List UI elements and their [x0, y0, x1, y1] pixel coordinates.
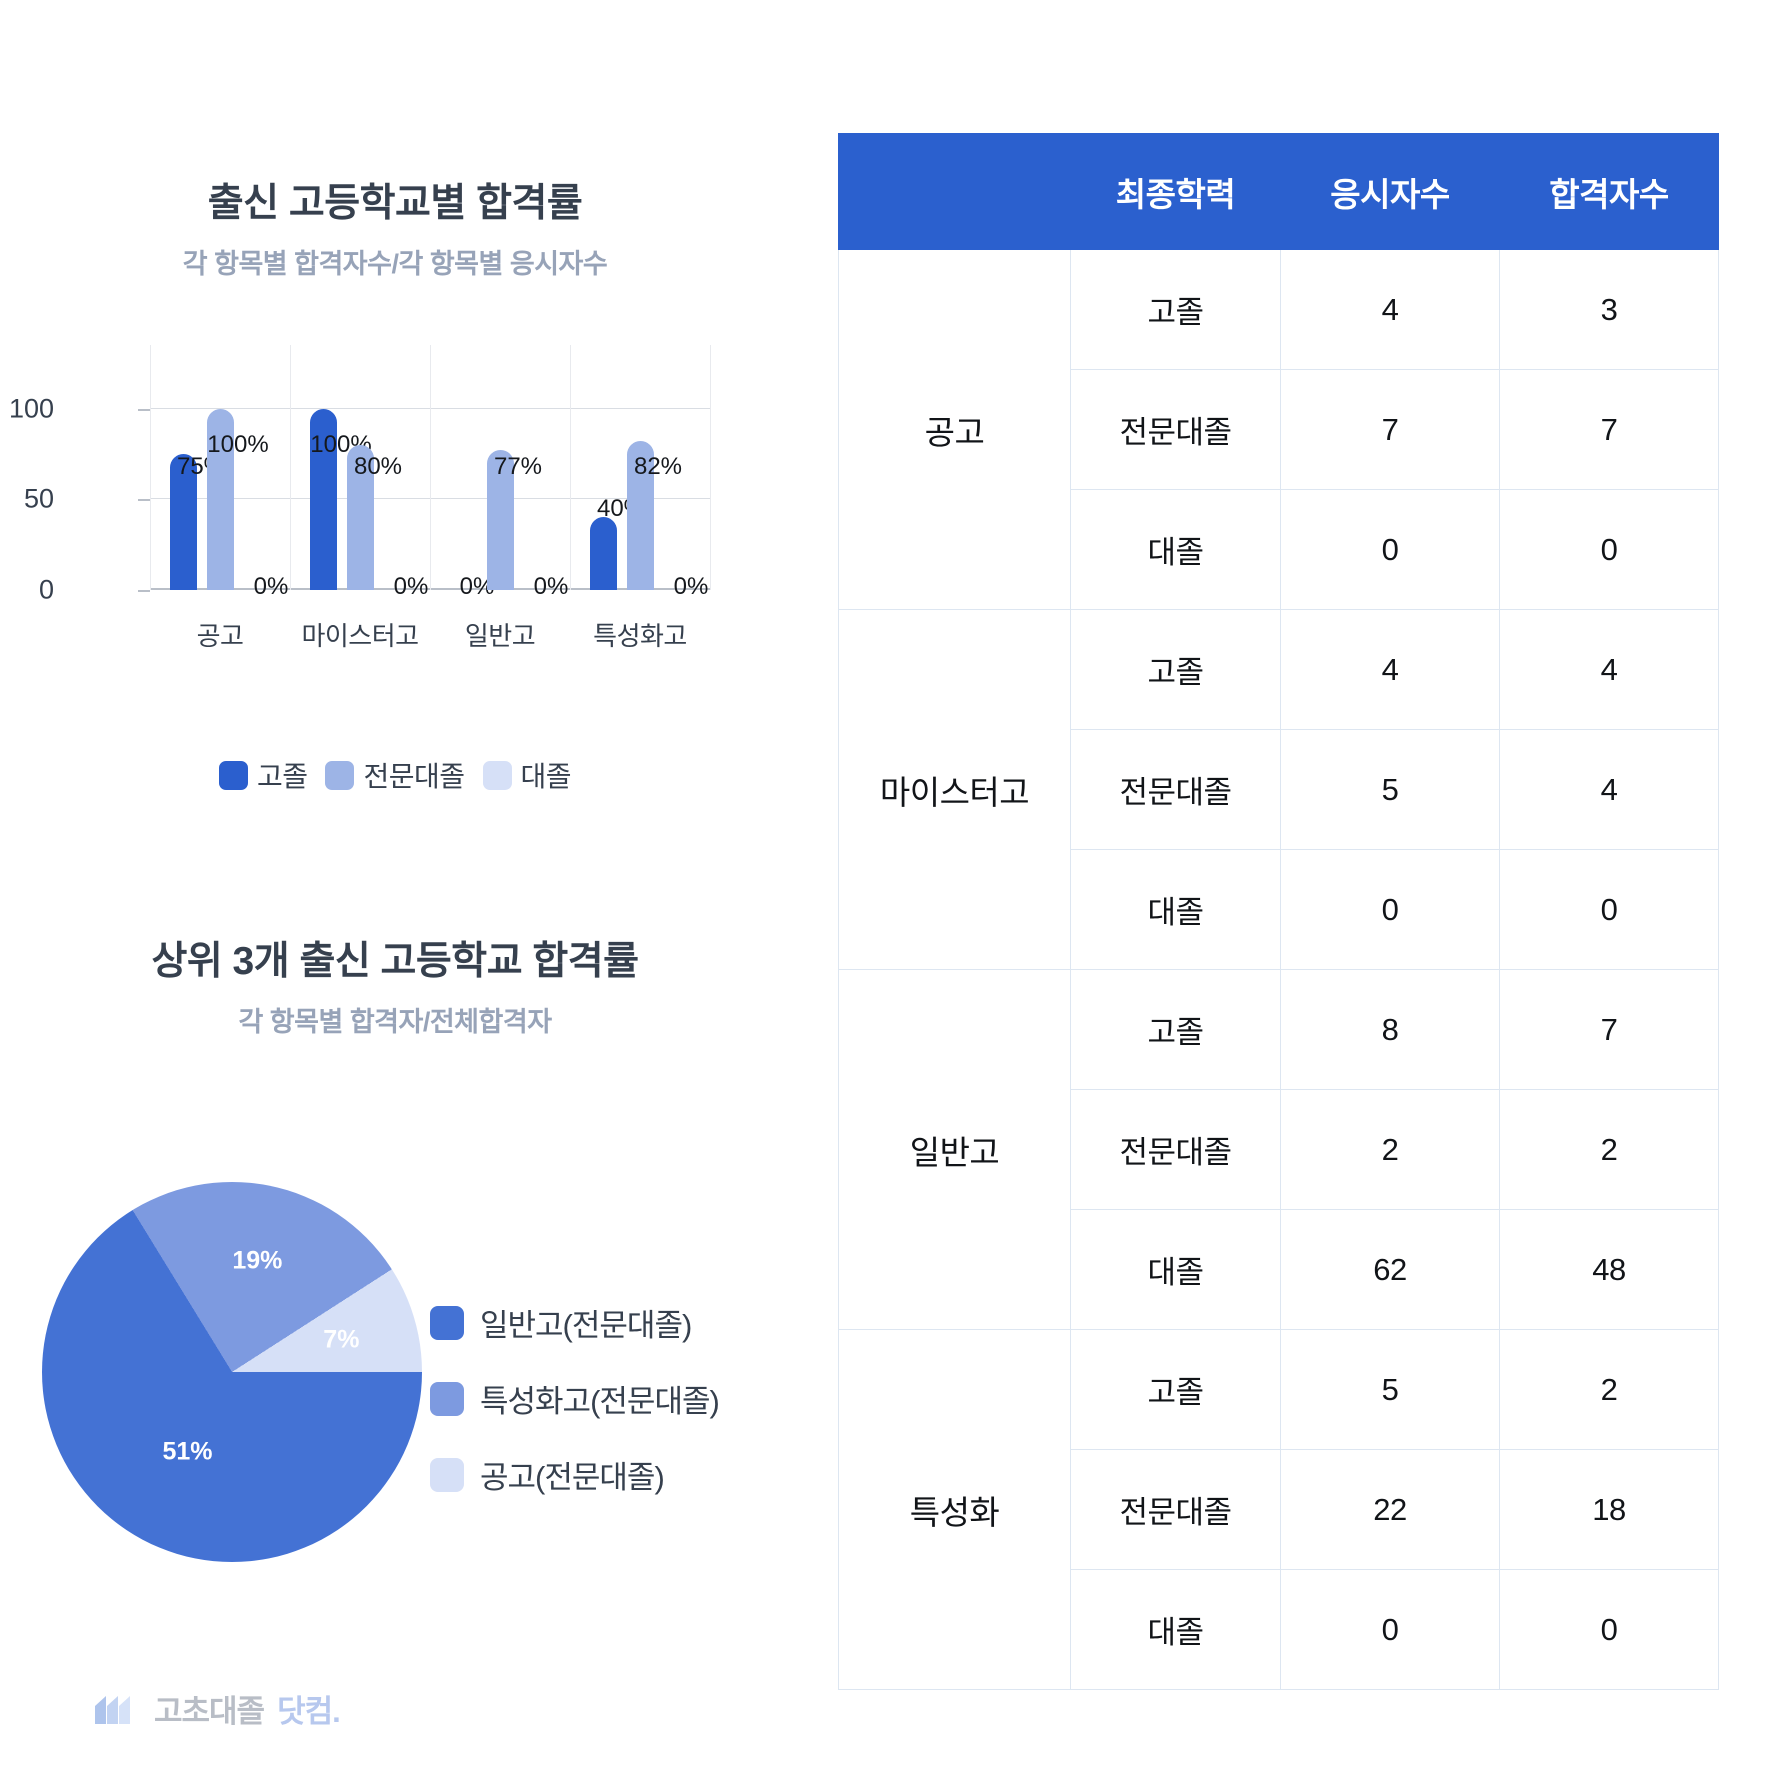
bar-chart-legend: 고졸전문대졸대졸	[0, 755, 790, 795]
bar-value-label: 0%	[394, 573, 429, 601]
table-cell-education: 고졸	[1071, 250, 1281, 370]
table-cell-applicants: 8	[1281, 970, 1500, 1090]
legend-item-대졸[interactable]: 대졸	[483, 755, 572, 795]
table-cell-passers: 0	[1500, 490, 1719, 610]
pie-chart: 51%19%7%	[42, 1182, 422, 1562]
table-cell-passers: 7	[1500, 370, 1719, 490]
table-cell-applicants: 7	[1281, 370, 1500, 490]
pie-chart-header: 상위 3개 출신 고등학교 합격률 각 항목별 합격자/전체합격자	[0, 930, 790, 1039]
pie-chart-subtitle: 각 항목별 합격자/전체합격자	[0, 1000, 790, 1039]
table-cell-passers: 0	[1500, 850, 1719, 970]
left-column: 출신 고등학교별 합격률 각 항목별 합격자수/각 항목별 응시자수 75%10…	[0, 0, 790, 1784]
table-cell-applicants: 4	[1281, 250, 1500, 370]
y-tick-label: 50	[0, 484, 54, 515]
table-cell-applicants: 5	[1281, 730, 1500, 850]
table-cell-education: 전문대졸	[1071, 1090, 1281, 1210]
pie-legend-item-일반고(전문대졸)[interactable]: 일반고(전문대졸)	[430, 1300, 719, 1345]
table-row: 일반고고졸87	[839, 970, 1719, 1090]
bar-value-label: 80%	[354, 453, 402, 481]
logo-suffix: 닷컴.	[277, 1686, 340, 1731]
table-cell-applicants: 0	[1281, 1570, 1500, 1690]
table-cell-education: 대졸	[1071, 1210, 1281, 1330]
table-cell-passers: 2	[1500, 1330, 1719, 1450]
table-cell-applicants: 62	[1281, 1210, 1500, 1330]
table-cell-education: 고졸	[1071, 610, 1281, 730]
pie-legend-swatch-icon	[430, 1458, 464, 1492]
stats-table-head: 최종학력 응시자수 합격자수	[839, 134, 1719, 250]
pie-legend-label: 특성화고(전문대졸)	[480, 1376, 719, 1421]
pie-legend-item-공고(전문대졸)[interactable]: 공고(전문대졸)	[430, 1452, 719, 1497]
table-cell-school-마이스터고: 마이스터고	[839, 610, 1071, 970]
col-header-passers: 합격자수	[1500, 134, 1719, 250]
table-cell-passers: 2	[1500, 1090, 1719, 1210]
logo-name: 고초대졸	[154, 1686, 264, 1731]
table-cell-passers: 48	[1500, 1210, 1719, 1330]
table-row: 마이스터고고졸44	[839, 610, 1719, 730]
table-cell-applicants: 0	[1281, 490, 1500, 610]
legend-item-전문대졸[interactable]: 전문대졸	[325, 755, 464, 795]
bar-value-label: 100%	[207, 431, 268, 459]
table-cell-education: 대졸	[1071, 850, 1281, 970]
y-tick-mark	[138, 590, 150, 592]
pie-chart-legend: 일반고(전문대졸)특성화고(전문대졸)공고(전문대졸)	[430, 1300, 719, 1528]
bar-value-label: 77%	[494, 453, 542, 481]
stats-table: 최종학력 응시자수 합격자수 공고고졸43전문대졸77대졸00마이스터고고졸44…	[838, 133, 1719, 1690]
category-separator	[710, 345, 711, 590]
table-row: 특성화고졸52	[839, 1330, 1719, 1450]
stats-table-wrapper: 최종학력 응시자수 합격자수 공고고졸43전문대졸77대졸00마이스터고고졸44…	[838, 133, 1718, 1690]
category-separator	[290, 345, 291, 590]
bar-chart-plot-area: 75%100%0%100%80%0%0%77%0%40%82%0%	[150, 345, 710, 590]
table-cell-school-일반고: 일반고	[839, 970, 1071, 1330]
table-cell-education: 전문대졸	[1071, 370, 1281, 490]
bar-chart-subtitle: 각 항목별 합격자수/각 항목별 응시자수	[0, 242, 790, 281]
pie-slice-label-공고(전문대졸): 7%	[323, 1325, 359, 1354]
col-header-applicants: 응시자수	[1281, 134, 1500, 250]
pie-slice-label-일반고(전문대졸): 51%	[162, 1437, 212, 1466]
bar-value-label: 82%	[634, 453, 682, 481]
table-cell-passers: 3	[1500, 250, 1719, 370]
bar-value-label: 0%	[534, 573, 569, 601]
table-cell-education: 전문대졸	[1071, 730, 1281, 850]
pie-chart-disc	[42, 1182, 422, 1562]
category-separator	[570, 345, 571, 590]
legend-label: 전문대졸	[363, 755, 464, 795]
pie-legend-item-특성화고(전문대졸)[interactable]: 특성화고(전문대졸)	[430, 1376, 719, 1421]
category-separator	[150, 345, 151, 590]
y-tick-label: 100	[0, 393, 54, 424]
x-tick-label-일반고: 일반고	[465, 616, 535, 653]
pie-legend-label: 일반고(전문대졸)	[480, 1300, 691, 1345]
table-cell-applicants: 2	[1281, 1090, 1500, 1210]
legend-swatch-icon	[483, 761, 512, 790]
table-cell-passers: 4	[1500, 730, 1719, 850]
bar-value-label: 0%	[674, 573, 709, 601]
x-tick-label-공고: 공고	[197, 616, 244, 653]
stats-table-body: 공고고졸43전문대졸77대졸00마이스터고고졸44전문대졸54대졸00일반고고졸…	[839, 250, 1719, 1690]
table-cell-education: 전문대졸	[1071, 1450, 1281, 1570]
pie-legend-swatch-icon	[430, 1306, 464, 1340]
y-tick-mark	[138, 409, 150, 411]
table-cell-applicants: 5	[1281, 1330, 1500, 1450]
bar-특성화고-고졸	[590, 517, 617, 590]
site-logo: 고초대졸 닷컴.	[95, 1686, 340, 1731]
bar-chart: 75%100%0%100%80%0%0%77%0%40%82%0% 050100…	[62, 345, 762, 645]
pie-legend-label: 공고(전문대졸)	[480, 1452, 664, 1497]
pie-chart-title: 상위 3개 출신 고등학교 합격률	[0, 930, 790, 986]
table-cell-passers: 18	[1500, 1450, 1719, 1570]
legend-label: 대졸	[521, 755, 572, 795]
x-tick-label-마이스터고: 마이스터고	[301, 616, 418, 653]
legend-swatch-icon	[219, 761, 248, 790]
table-cell-passers: 0	[1500, 1570, 1719, 1690]
stats-table-header-row: 최종학력 응시자수 합격자수	[839, 134, 1719, 250]
pie-legend-swatch-icon	[430, 1382, 464, 1416]
table-cell-education: 대졸	[1071, 490, 1281, 610]
table-cell-school-공고: 공고	[839, 250, 1071, 610]
table-cell-education: 고졸	[1071, 1330, 1281, 1450]
col-header-school	[839, 134, 1071, 250]
factory-icon	[95, 1694, 141, 1724]
table-cell-passers: 7	[1500, 970, 1719, 1090]
y-tick-mark	[138, 499, 150, 501]
bar-value-label: 0%	[254, 573, 289, 601]
pie-slice-label-특성화고(전문대졸): 19%	[232, 1246, 282, 1275]
x-tick-label-특성화고: 특성화고	[593, 616, 687, 653]
category-separator	[430, 345, 431, 590]
infographic-page: 출신 고등학교별 합격률 각 항목별 합격자수/각 항목별 응시자수 75%10…	[0, 0, 1784, 1784]
table-row: 공고고졸43	[839, 250, 1719, 370]
y-tick-label: 0	[0, 575, 54, 606]
table-cell-applicants: 0	[1281, 850, 1500, 970]
table-cell-passers: 4	[1500, 610, 1719, 730]
col-header-education: 최종학력	[1071, 134, 1281, 250]
table-cell-school-특성화: 특성화	[839, 1330, 1071, 1690]
legend-item-고졸[interactable]: 고졸	[219, 755, 308, 795]
table-cell-education: 고졸	[1071, 970, 1281, 1090]
legend-label: 고졸	[257, 755, 308, 795]
table-cell-applicants: 22	[1281, 1450, 1500, 1570]
table-cell-applicants: 4	[1281, 610, 1500, 730]
bar-chart-title: 출신 고등학교별 합격률	[0, 172, 790, 228]
legend-swatch-icon	[325, 761, 354, 790]
bar-chart-header: 출신 고등학교별 합격률 각 항목별 합격자수/각 항목별 응시자수	[0, 172, 790, 281]
table-cell-education: 대졸	[1071, 1570, 1281, 1690]
